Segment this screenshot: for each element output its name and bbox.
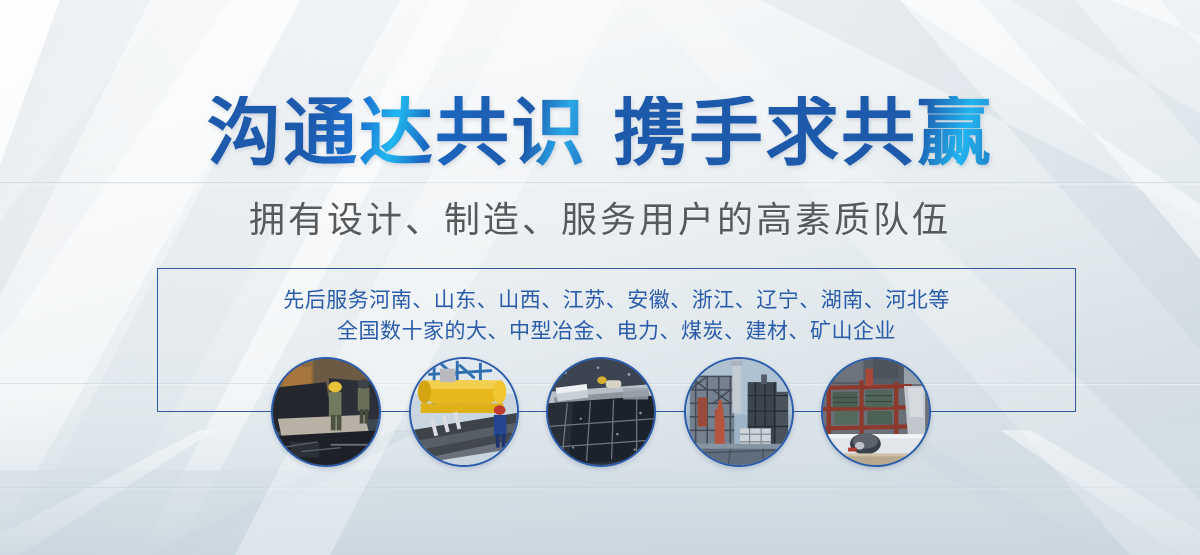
thumbnail-industrial-plant-scaffolding[interactable] (684, 357, 794, 467)
page-title: 沟通达共识携手求共赢 (0, 96, 1200, 170)
thumbnail-image-3 (548, 359, 654, 465)
thumbnail-image-4 (686, 359, 792, 465)
headline-part-1: 沟通达共识 (207, 91, 587, 174)
thumbnail-image-5 (823, 359, 929, 465)
info-box-line-2: 全国数十家的大、中型冶金、电力、煤炭、建材、矿山企业 (158, 316, 1075, 347)
info-box-line-1: 先后服务河南、山东、山西、江苏、安徽、浙江、辽宁、湖南、河北等 (158, 285, 1075, 316)
headline-part-2: 携手求共赢 (613, 91, 993, 174)
thumbnail-image-1 (273, 359, 379, 465)
thumbnail-image-2 (411, 359, 517, 465)
info-box-text: 先后服务河南、山东、山西、江苏、安徽、浙江、辽宁、湖南、河北等 全国数十家的大、… (158, 285, 1075, 347)
thumbnail-yellow-industrial-equipment-pipes[interactable] (409, 357, 519, 467)
page-subtitle: 拥有设计、制造、服务用户的高素质队伍 (0, 198, 1200, 241)
thumbnail-workers-installing-dark-panels[interactable] (271, 357, 381, 467)
thumbnail-row (271, 357, 931, 467)
promotional-banner: 沟通达共识携手求共赢 拥有设计、制造、服务用户的高素质队伍 先后服务河南、山东、… (0, 0, 1200, 555)
thumbnail-workshop-red-steel-framework[interactable] (821, 357, 931, 467)
thumbnail-dark-steel-structure[interactable] (546, 357, 656, 467)
